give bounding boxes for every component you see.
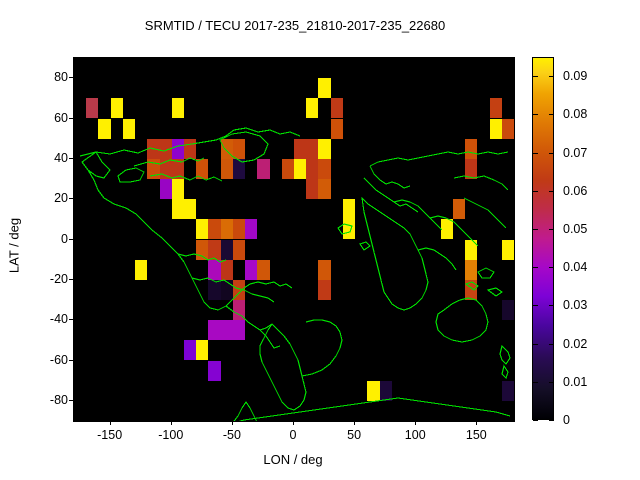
y-tick-mark	[69, 400, 73, 401]
colorbar-tick-label: 0	[563, 413, 570, 427]
y-tick-label: -20	[0, 272, 68, 286]
x-tick-label: 50	[347, 428, 361, 442]
map-heatmap-axes[interactable]	[73, 57, 515, 422]
colorbar-tick-mark	[533, 305, 538, 306]
figure-canvas: SRMTID / TECU 2017-235_21810-2017-235_22…	[0, 0, 640, 480]
x-tick-mark	[171, 421, 172, 425]
y-tick-mark	[69, 198, 73, 199]
colorbar-tick-label: 0.06	[563, 184, 587, 198]
x-axis-label: LON / deg	[73, 452, 513, 467]
colorbar-tick-label: 0.01	[563, 375, 587, 389]
colorbar-tick-mark	[549, 305, 554, 306]
colorbar-tick-mark	[549, 229, 554, 230]
y-tick-mark	[69, 319, 73, 320]
colorbar-tick-mark	[549, 344, 554, 345]
colorbar-tick-mark	[549, 114, 554, 115]
x-tick-label: -50	[223, 428, 241, 442]
colorbar-tick-mark	[549, 153, 554, 154]
colorbar-tick-mark	[533, 153, 538, 154]
y-tick-label: -80	[0, 393, 68, 407]
colorbar-tick-mark	[549, 420, 554, 421]
coastline-overlay	[74, 58, 514, 421]
colorbar-tick-label: 0.08	[563, 107, 587, 121]
y-tick-mark	[69, 118, 73, 119]
colorbar-tick-mark	[549, 382, 554, 383]
y-tick-label: -40	[0, 312, 68, 326]
colorbar-tick-mark	[533, 382, 538, 383]
x-tick-label: -100	[158, 428, 183, 442]
colorbar-gradient	[533, 58, 553, 419]
x-tick-label: 150	[466, 428, 487, 442]
x-tick-mark	[232, 421, 233, 425]
y-tick-label: 0	[0, 232, 68, 246]
colorbar-tick-mark	[533, 191, 538, 192]
x-tick-mark	[293, 421, 294, 425]
y-tick-label: 20	[0, 191, 68, 205]
x-tick-label: 100	[405, 428, 426, 442]
colorbar-tick-mark	[533, 114, 538, 115]
colorbar-tick-label: 0.03	[563, 298, 587, 312]
colorbar-tick-mark	[549, 191, 554, 192]
colorbar-tick-label: 0.09	[563, 69, 587, 83]
y-tick-label: -60	[0, 353, 68, 367]
colorbar-tick-label: 0.05	[563, 222, 587, 236]
y-tick-mark	[69, 239, 73, 240]
y-tick-label: 60	[0, 111, 68, 125]
x-tick-label: -150	[97, 428, 122, 442]
x-tick-mark	[110, 421, 111, 425]
colorbar-tick-label: 0.02	[563, 337, 587, 351]
x-tick-mark	[415, 421, 416, 425]
y-tick-mark	[69, 279, 73, 280]
colorbar-tick-mark	[533, 420, 538, 421]
x-tick-mark	[354, 421, 355, 425]
colorbar[interactable]	[532, 57, 554, 420]
y-tick-mark	[69, 77, 73, 78]
y-tick-mark	[69, 360, 73, 361]
colorbar-tick-mark	[533, 76, 538, 77]
colorbar-tick-mark	[549, 76, 554, 77]
colorbar-tick-mark	[533, 229, 538, 230]
colorbar-tick-label: 0.07	[563, 146, 587, 160]
colorbar-tick-mark	[549, 267, 554, 268]
colorbar-tick-label: 0.04	[563, 260, 587, 274]
y-tick-mark	[69, 158, 73, 159]
x-tick-label: 0	[290, 428, 297, 442]
y-tick-label: 80	[0, 70, 68, 84]
page-title: SRMTID / TECU 2017-235_21810-2017-235_22…	[0, 18, 590, 33]
colorbar-tick-mark	[533, 267, 538, 268]
y-tick-label: 40	[0, 151, 68, 165]
x-tick-mark	[476, 421, 477, 425]
colorbar-tick-mark	[533, 344, 538, 345]
